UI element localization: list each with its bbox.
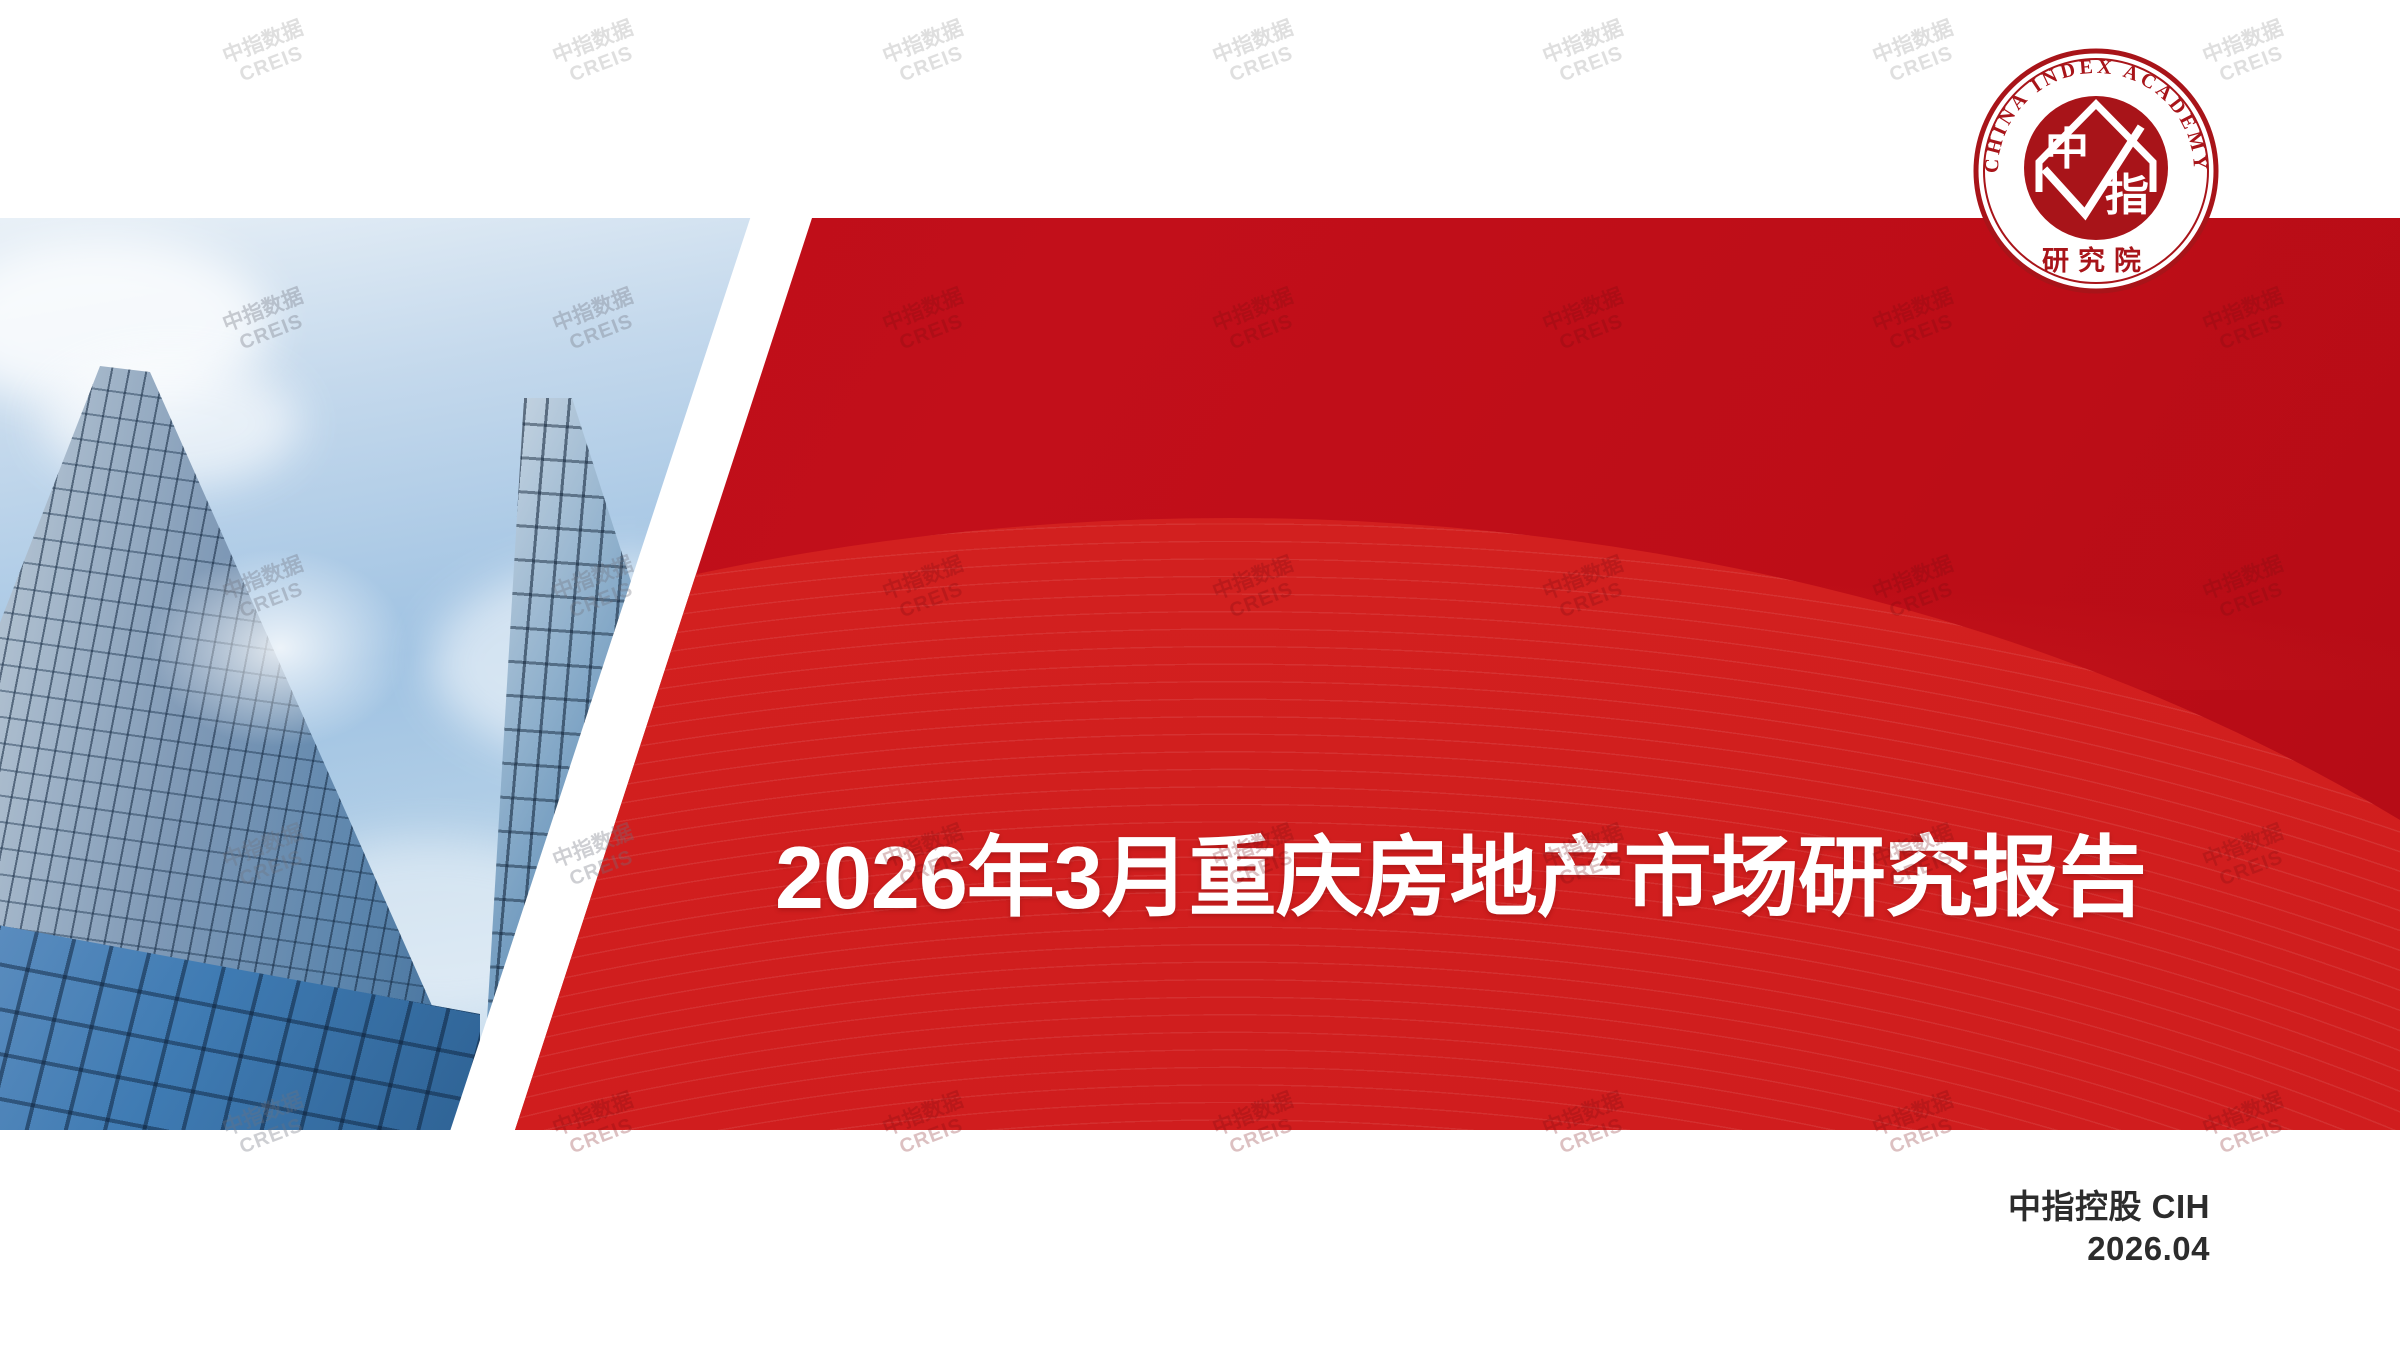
svg-text:指: 指 [2105, 170, 2149, 221]
cover-banner: 2026年3月重庆房地产市场研究报告 [0, 218, 2400, 1130]
report-cover-slide: 2026年3月重庆房地产市场研究报告 CHINA INDEX ACADEMY 中… [0, 0, 2400, 1350]
watermark: 中指数据CREIS [1870, 16, 1965, 89]
watermark: 中指数据CREIS [1210, 16, 1305, 89]
china-index-academy-logo: CHINA INDEX ACADEMY 中 指 研究院 [1967, 42, 2225, 300]
watermark: 中指数据CREIS [550, 16, 645, 89]
footer-organization: 中指控股 CIH [2008, 1186, 2210, 1228]
watermark: 中指数据CREIS [220, 16, 315, 89]
watermark: 中指数据CREIS [1540, 16, 1635, 89]
page-title: 2026年3月重庆房地产市场研究报告 [775, 830, 2355, 925]
footer-block: 中指控股 CIH 2026.04 [2008, 1186, 2210, 1270]
svg-text:研究院: 研究院 [2042, 245, 2150, 276]
watermark: 中指数据CREIS [880, 16, 975, 89]
svg-text:中: 中 [2045, 124, 2089, 175]
footer-date: 2026.04 [2008, 1228, 2210, 1270]
glass-reflection-glow [150, 548, 410, 748]
